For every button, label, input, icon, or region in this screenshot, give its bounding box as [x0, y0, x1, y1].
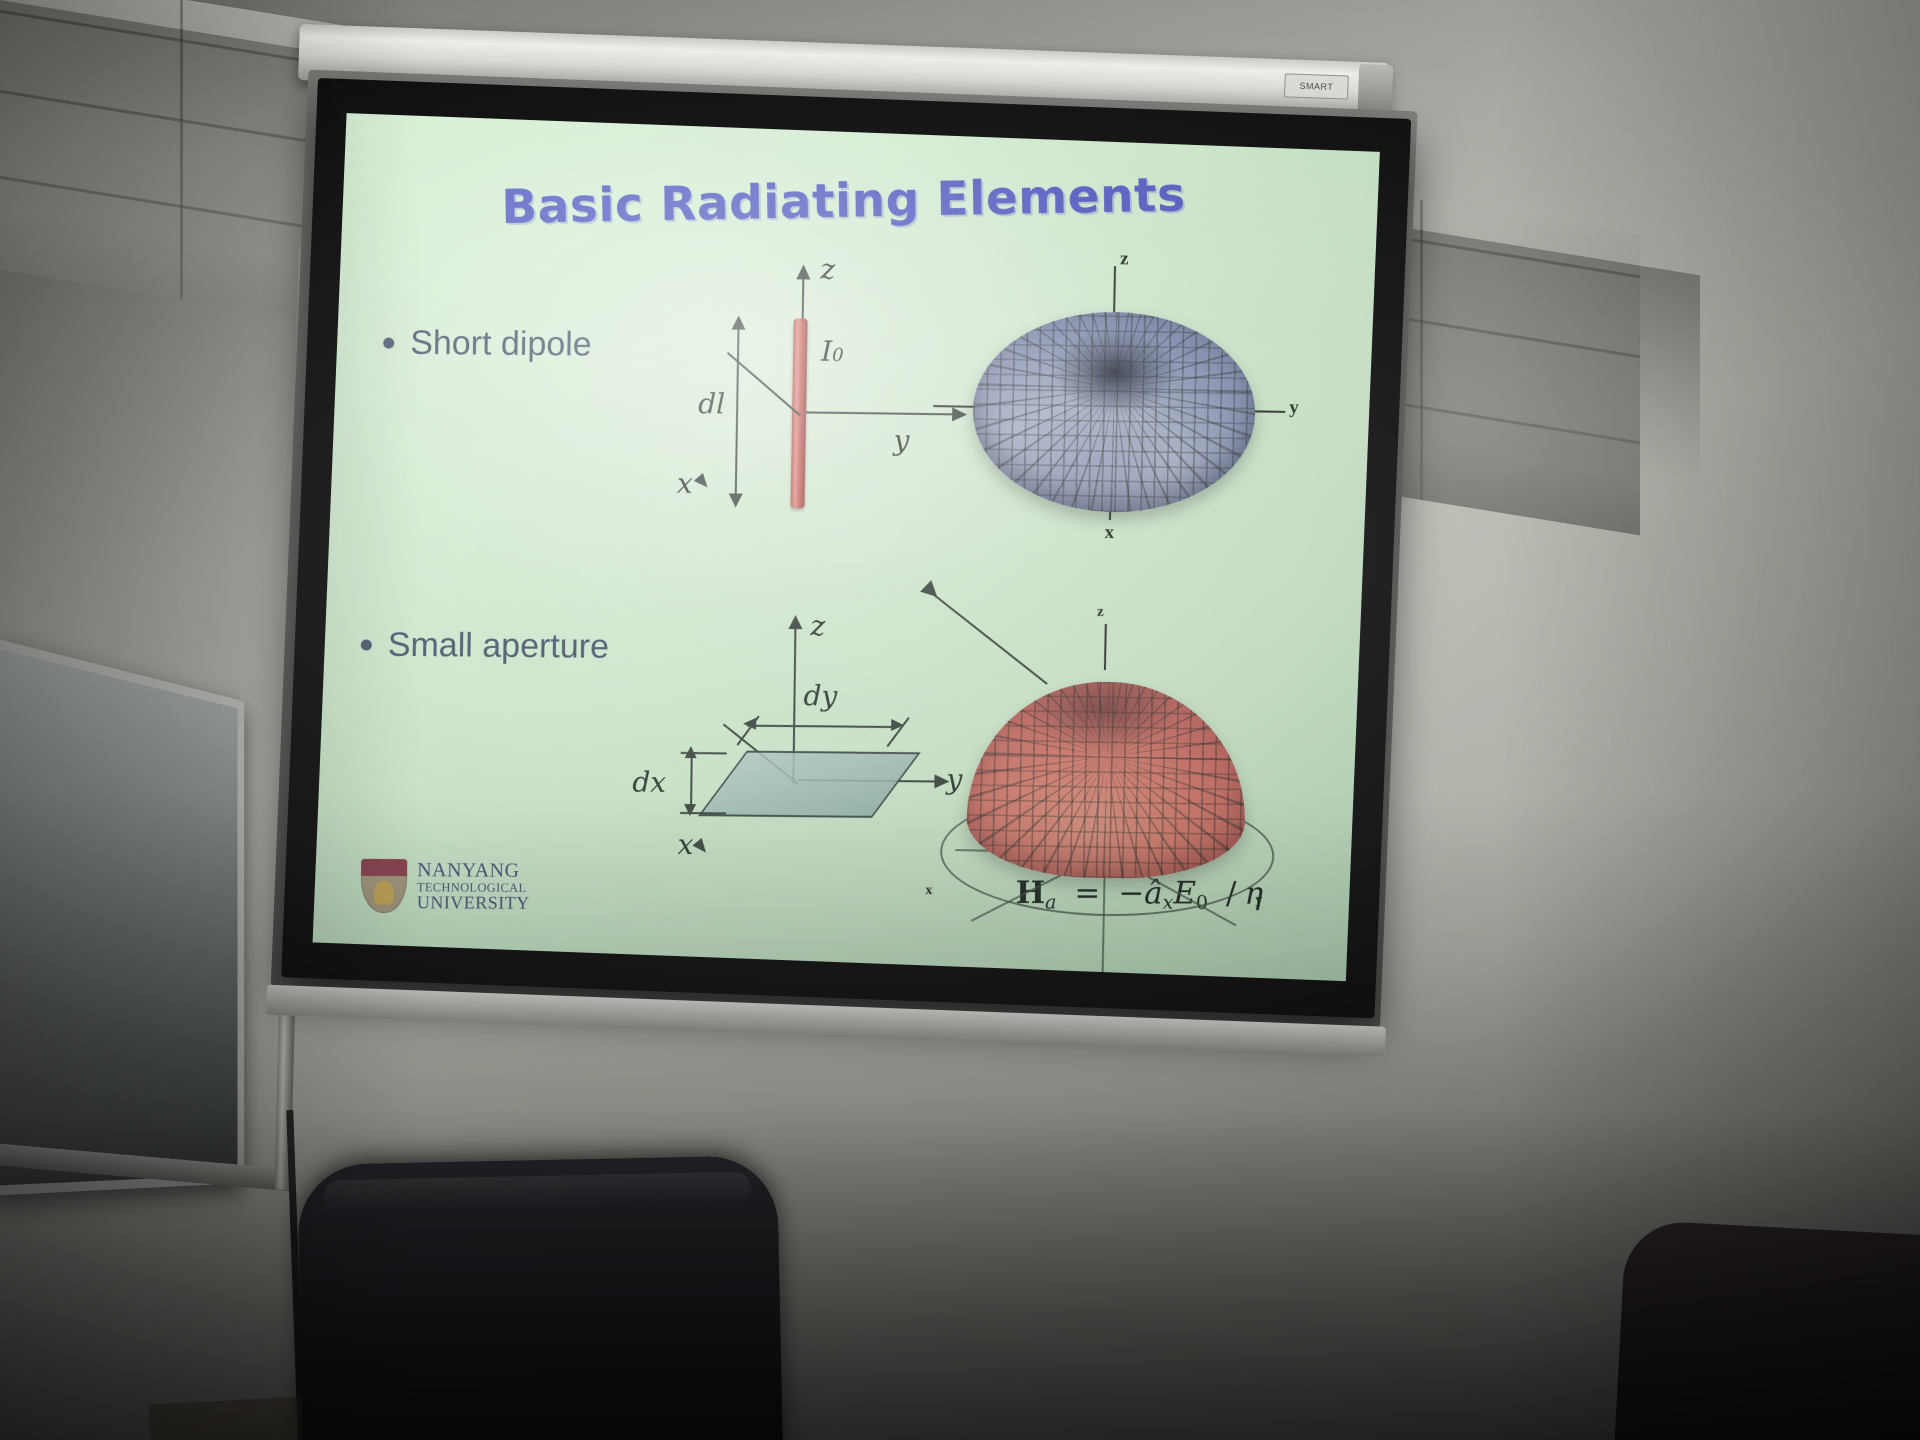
classroom-photo: SMART Basic Radiating Elements Short dip… [0, 0, 1920, 1440]
wall-lighting-gradient [0, 0, 1920, 1440]
